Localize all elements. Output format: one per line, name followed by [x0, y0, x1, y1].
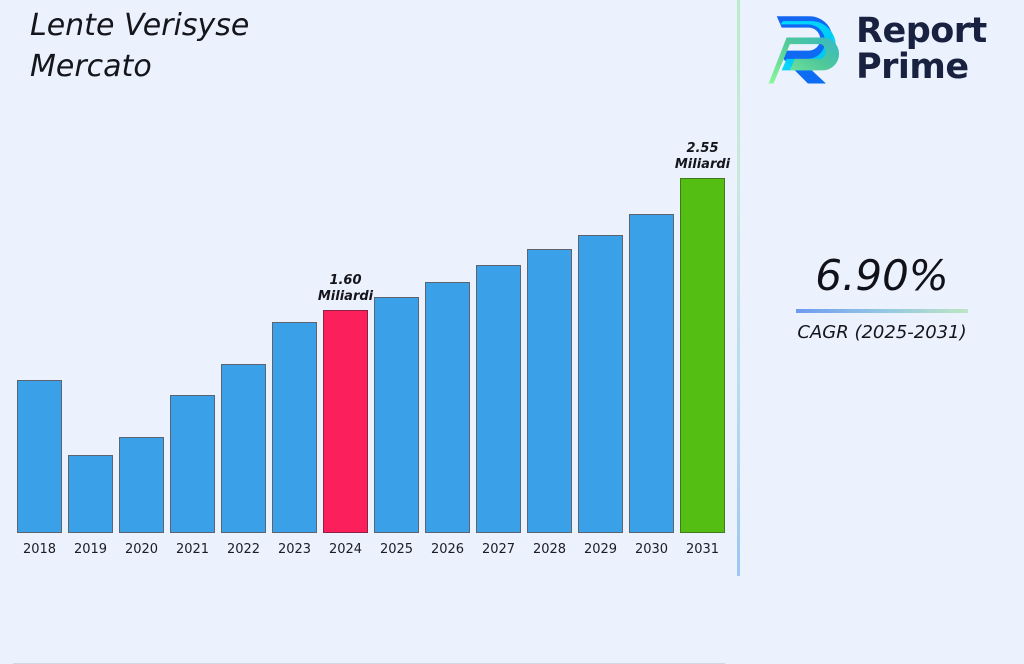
report-prime-r-logo-icon [762, 8, 844, 90]
bar-series: 1.60 Miliardi2.55 Miliardi [17, 130, 725, 533]
x-tick-2019: 2019 [68, 542, 113, 557]
bar-2027[interactable] [476, 265, 521, 533]
x-tick-2023: 2023 [272, 542, 317, 557]
bar-2028[interactable] [527, 249, 572, 533]
bar-slot: 1.60 Miliardi [323, 130, 368, 533]
x-tick-2031: 2031 [680, 542, 725, 557]
bar-2020[interactable] [119, 437, 164, 533]
cagr-block: 6.90% CAGR (2025-2031) [740, 255, 1024, 343]
x-tick-2029: 2029 [578, 542, 623, 557]
page-title: Lente Verisyse Mercato [30, 6, 450, 88]
bar-value-label: 1.60 Miliardi [318, 273, 373, 304]
cagr-divider [796, 309, 968, 313]
chart-panel: Lente Verisyse Mercato 1.60 Miliardi2.55… [0, 0, 737, 576]
bar-2024[interactable] [323, 310, 368, 533]
bar-slot [68, 130, 113, 533]
brand-wordmark: Report Prime [856, 13, 987, 85]
x-tick-2030: 2030 [629, 542, 674, 557]
bar-chart-plot-area: 1.60 Miliardi2.55 Miliardi [13, 130, 725, 533]
bar-2030[interactable] [629, 214, 674, 533]
bar-slot [272, 130, 317, 533]
bar-2025[interactable] [374, 297, 419, 533]
bar-2026[interactable] [425, 282, 470, 533]
x-tick-2027: 2027 [476, 542, 521, 557]
x-axis-tick-labels: 2018201920202021202220232024202520262027… [17, 542, 725, 557]
bar-slot [170, 130, 215, 533]
cagr-caption: CAGR (2025-2031) [740, 322, 1024, 343]
brand-logo: Report Prime [762, 8, 987, 90]
bar-slot [578, 130, 623, 533]
bar-2023[interactable] [272, 322, 317, 533]
x-tick-2018: 2018 [17, 542, 62, 557]
bar-slot [374, 130, 419, 533]
infographic-page: Lente Verisyse Mercato 1.60 Miliardi2.55… [0, 0, 1024, 576]
x-tick-2021: 2021 [170, 542, 215, 557]
bar-2021[interactable] [170, 395, 215, 533]
bar-slot [425, 130, 470, 533]
brand-wordmark-line2: Prime [856, 49, 987, 85]
bar-slot [476, 130, 521, 533]
x-tick-2028: 2028 [527, 542, 572, 557]
x-tick-2022: 2022 [221, 542, 266, 557]
bar-2018[interactable] [17, 380, 62, 533]
cagr-value: 6.90% [740, 255, 1024, 297]
bar-2019[interactable] [68, 455, 113, 533]
bar-2029[interactable] [578, 235, 623, 533]
bar-slot [221, 130, 266, 533]
bar-slot: 2.55 Miliardi [680, 130, 725, 533]
bar-slot [629, 130, 674, 533]
bar-value-label: 2.55 Miliardi [675, 141, 730, 172]
bar-slot [527, 130, 572, 533]
bar-slot [119, 130, 164, 533]
bar-2022[interactable] [221, 364, 266, 533]
x-tick-2024: 2024 [323, 542, 368, 557]
bar-2031[interactable] [680, 178, 725, 533]
x-tick-2026: 2026 [425, 542, 470, 557]
brand-wordmark-line1: Report [856, 13, 987, 49]
x-tick-2020: 2020 [119, 542, 164, 557]
x-tick-2025: 2025 [374, 542, 419, 557]
brand-panel: Report Prime 6.90% CAGR (2025-2031) [740, 0, 1024, 576]
bar-slot [17, 130, 62, 533]
